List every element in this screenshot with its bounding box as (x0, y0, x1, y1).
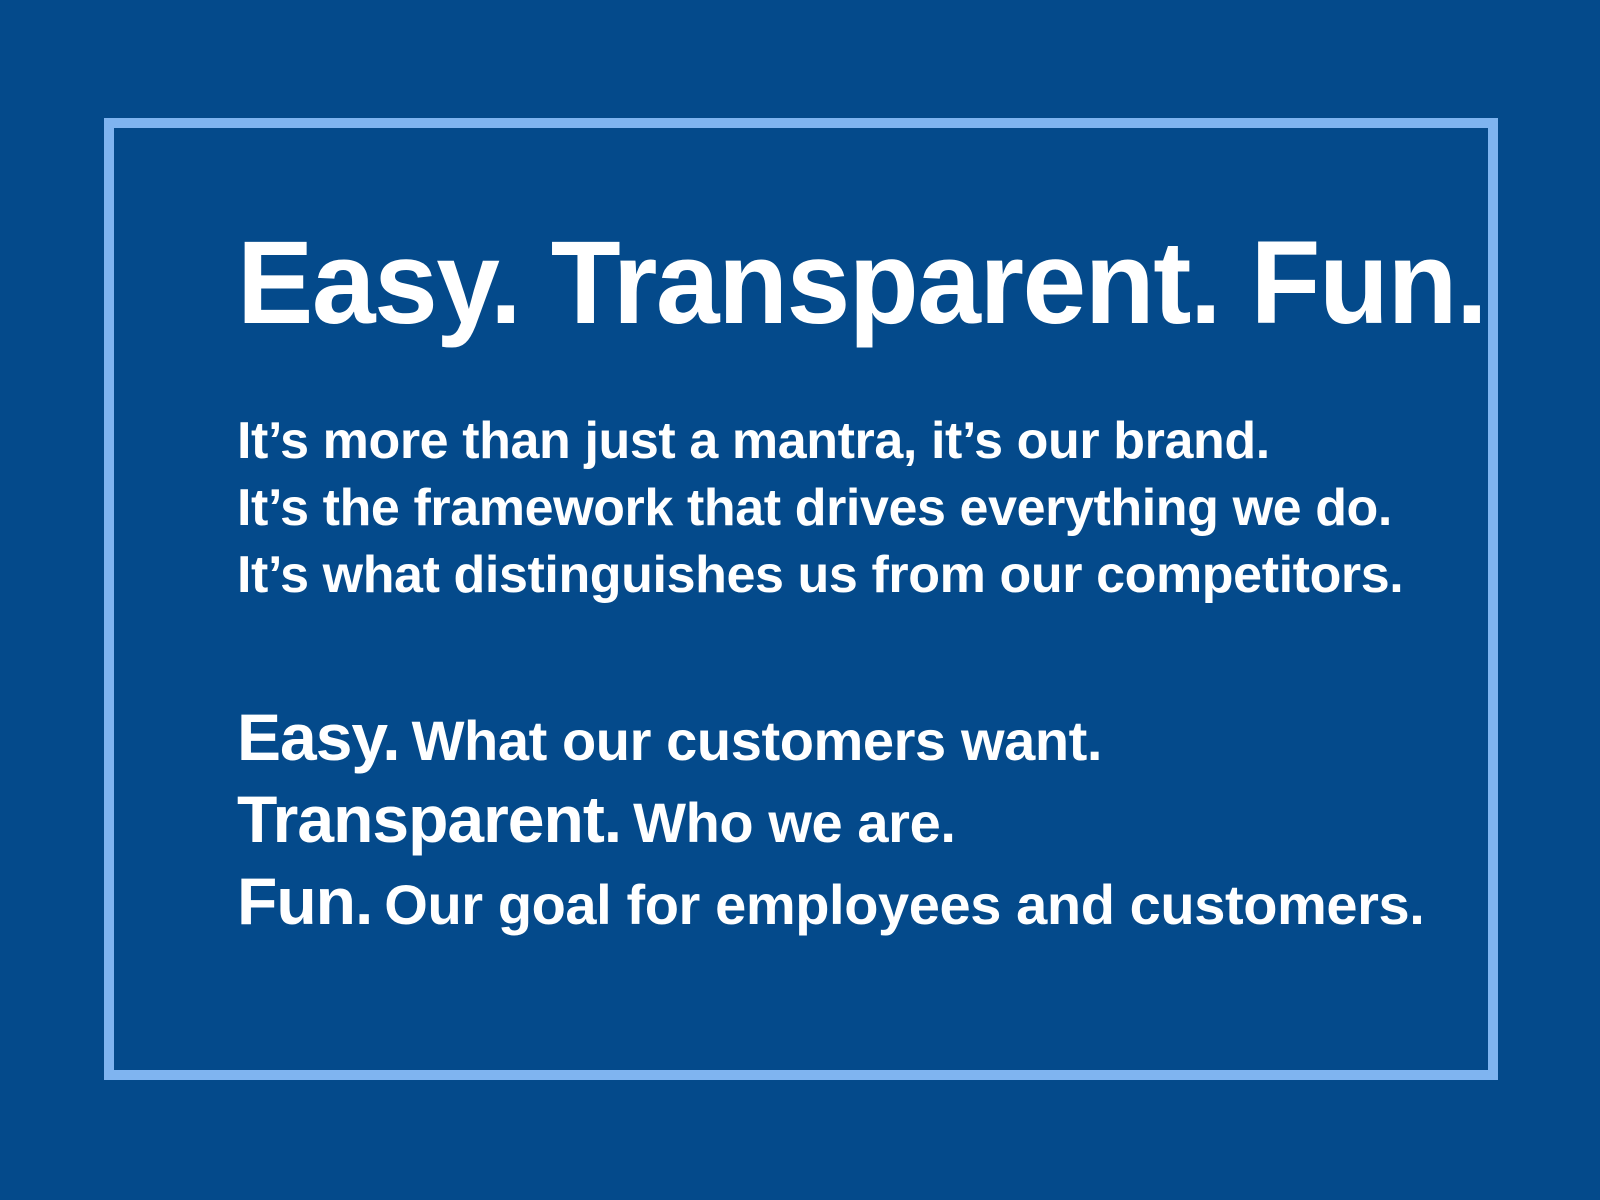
intro-line-3: It’s what distinguishes us from our comp… (237, 542, 1403, 609)
definition-description-transparent: Who we are. (621, 791, 955, 854)
definition-description-fun: Our goal for employees and customers. (372, 873, 1424, 936)
definition-item-transparent: Transparent.Who we are. (237, 778, 1424, 860)
definition-list: Easy.What our customers want. Transparen… (237, 696, 1424, 942)
definition-item-easy: Easy.What our customers want. (237, 696, 1424, 778)
definition-term-easy: Easy. (237, 700, 400, 774)
intro-line-2: It’s the framework that drives everythin… (237, 475, 1403, 542)
definition-item-fun: Fun.Our goal for employees and customers… (237, 860, 1424, 942)
definition-term-transparent: Transparent. (237, 782, 621, 856)
definition-term-fun: Fun. (237, 864, 372, 938)
brand-slide: Easy. Transparent. Fun. It’s more than j… (0, 0, 1600, 1200)
intro-paragraph: It’s more than just a mantra, it’s our b… (237, 408, 1403, 609)
definition-description-easy: What our customers want. (400, 709, 1102, 772)
page-title: Easy. Transparent. Fun. (237, 224, 1486, 342)
intro-line-1: It’s more than just a mantra, it’s our b… (237, 408, 1403, 475)
